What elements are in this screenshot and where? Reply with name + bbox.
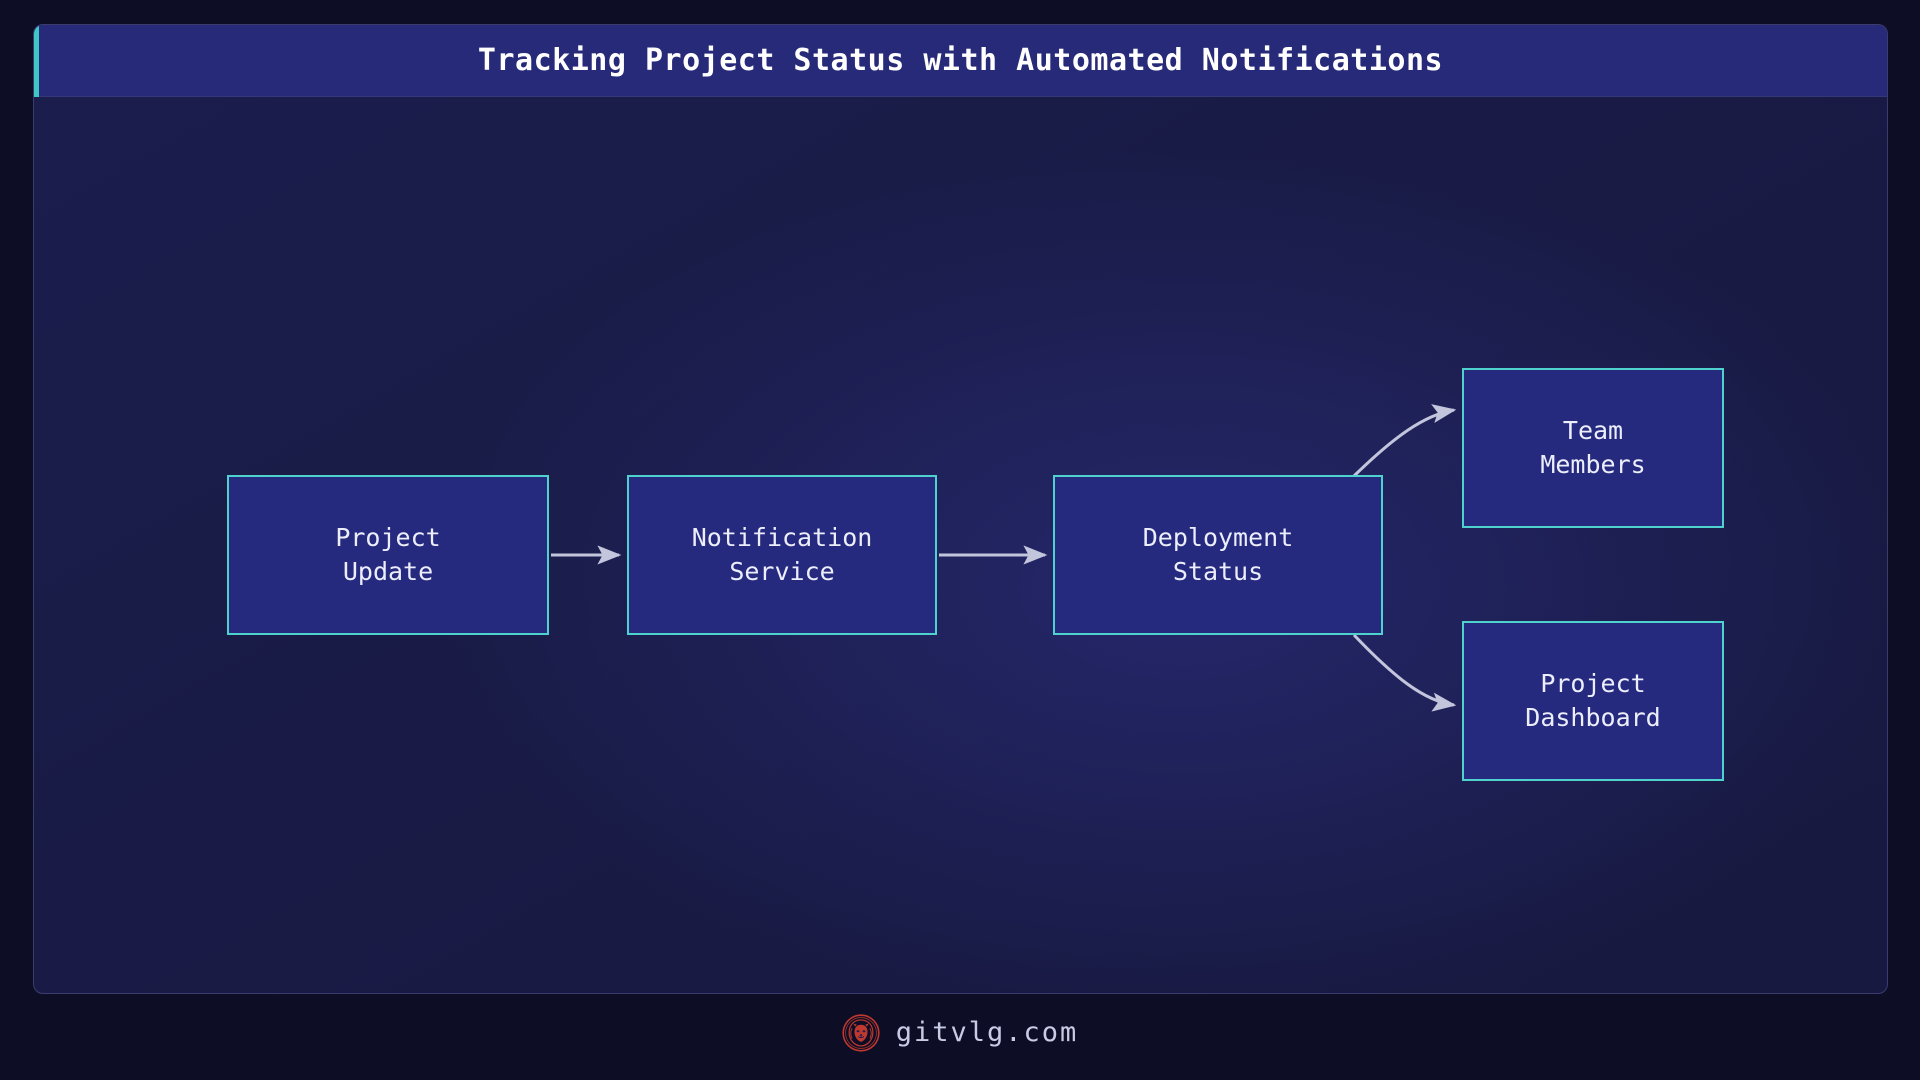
node-label-line2: Update (343, 555, 433, 590)
lion-emblem-logo-icon (842, 1014, 880, 1052)
node-team-members[interactable]: Team Members (1462, 368, 1724, 528)
node-label-line2: Service (729, 555, 834, 590)
node-deployment-status[interactable]: Deployment Status (1053, 475, 1383, 635)
edge-deployment-status-to-project-dashboard (1354, 635, 1454, 705)
node-project-update[interactable]: Project Update (227, 475, 549, 635)
flowchart-canvas: Project Update Notification Service Depl… (34, 97, 1888, 994)
node-label-line1: Deployment (1143, 521, 1294, 556)
edge-deployment-status-to-team-members (1354, 410, 1454, 476)
footer-site-label: gitvlg.com (896, 1017, 1079, 1048)
node-label-line2: Status (1173, 555, 1263, 590)
node-label-line2: Members (1540, 448, 1645, 483)
node-label-line2: Dashboard (1525, 701, 1660, 736)
node-label-line1: Notification (692, 521, 873, 556)
node-project-dashboard[interactable]: Project Dashboard (1462, 621, 1724, 781)
footer: gitvlg.com (0, 1005, 1920, 1060)
page-title: Tracking Project Status with Automated N… (478, 43, 1443, 78)
node-notification-service[interactable]: Notification Service (627, 475, 937, 635)
node-label-line1: Team (1563, 414, 1623, 449)
node-label-line1: Project (335, 521, 440, 556)
page-root: Tracking Project Status with Automated N… (0, 0, 1920, 1080)
title-bar: Tracking Project Status with Automated N… (34, 25, 1887, 97)
node-label-line1: Project (1540, 667, 1645, 702)
title-accent-bar (34, 25, 39, 97)
diagram-card: Tracking Project Status with Automated N… (33, 24, 1888, 994)
